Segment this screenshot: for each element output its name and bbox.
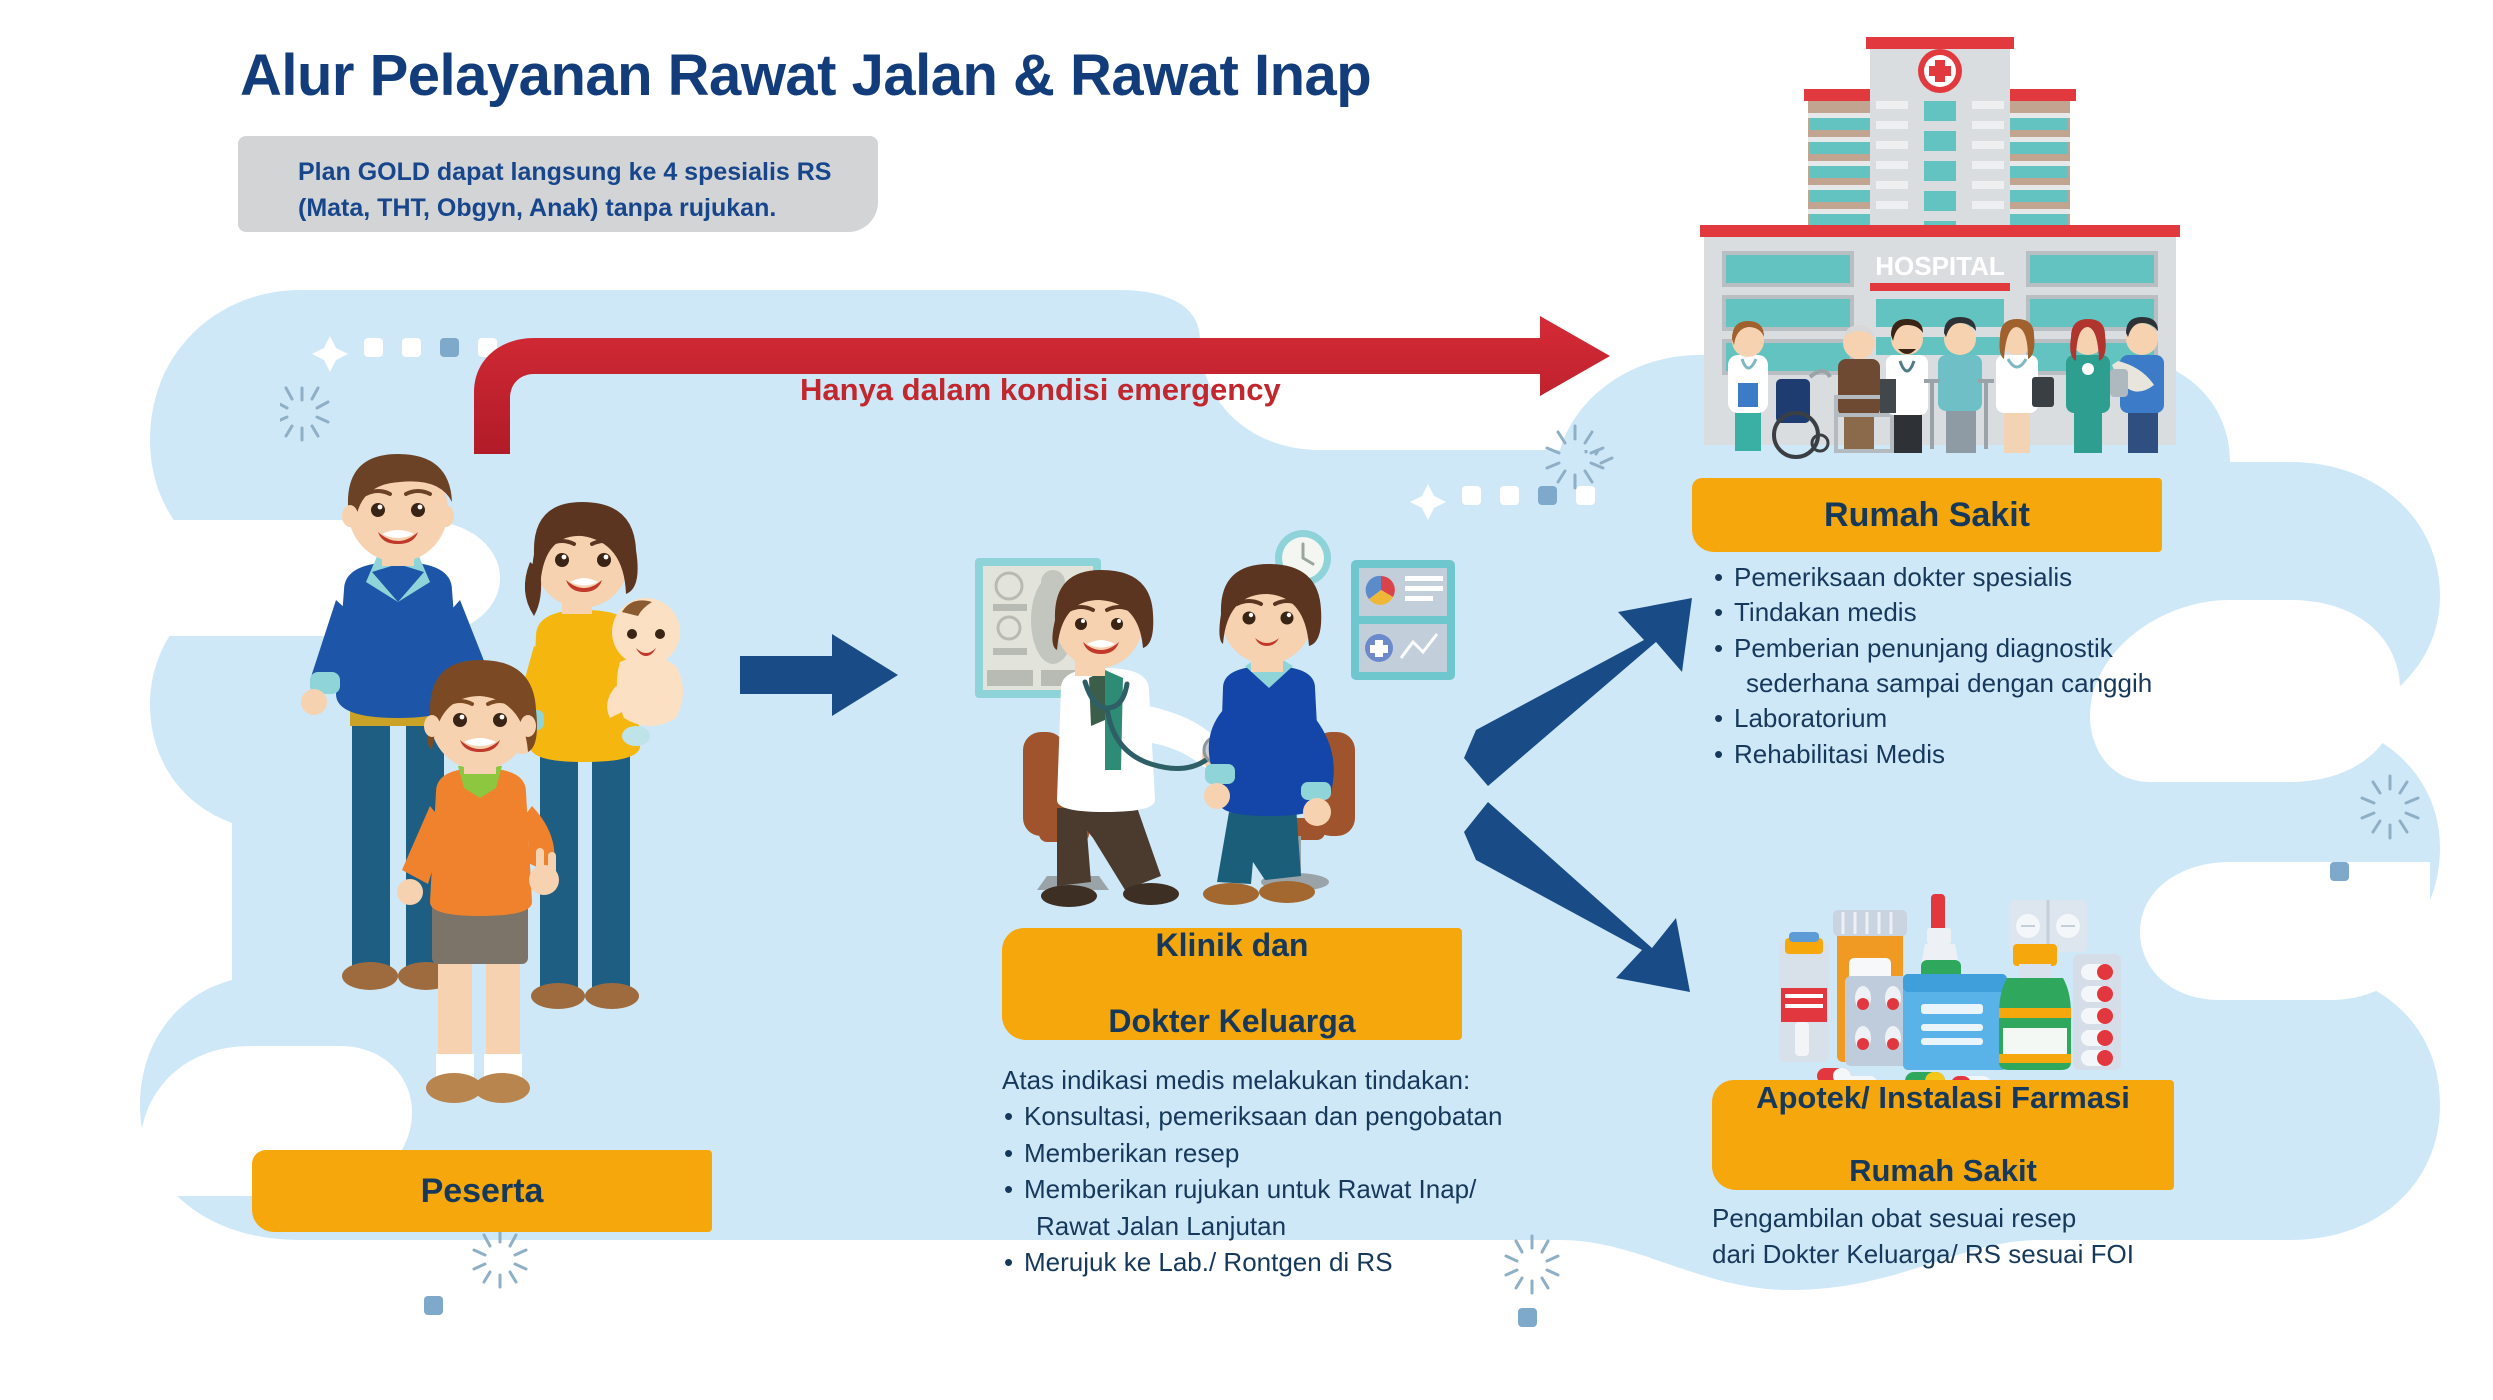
card-apotek-label: Apotek/ Instalasi Farmasi Rumah Sakit [1756,1080,2130,1190]
card-apotek-line2: Rumah Sakit [1756,1153,2130,1190]
list-item: Memberikan rujukan untuk Rawat Inap/ [1002,1171,1522,1207]
hospital-sign-text: HOSPITAL [1875,251,2005,281]
card-peserta[interactable]: Peserta [252,1150,712,1232]
patient-figure [1203,564,1334,905]
pill-strip-left [1779,932,1829,1062]
list-item: Pemeriksaan dokter spesialis [1712,560,2232,595]
callout-text: Plan GOLD dapat langsung ke 4 spesialis … [298,154,858,227]
red-cross-logo [1918,49,1962,93]
page-title: Alur Pelayanan Rawat Jalan & Rawat Inap [240,42,1371,109]
arrow-klinik-to-apotek [1460,780,1710,1000]
deco-cluster-far-right [2230,770,2490,890]
card-peserta-label: Peserta [421,1171,544,1211]
infographic-canvas: Alur Pelayanan Rawat Jalan & Rawat Inap … [0,0,2493,1400]
apotek-description: Pengambilan obat sesuai resep dari Dokte… [1712,1200,2212,1273]
list-item-continuation: sederhana sampai dengan canggih [1712,666,2232,701]
klinik-bullet-list: Atas indikasi medis melakukan tindakan: … [1002,1062,1522,1280]
doctor-figure [1041,570,1232,907]
medical-chart-board-icon [1351,560,1455,680]
callout-line-1: Plan GOLD dapat langsung ke 4 spesialis … [298,158,831,186]
medicine-box-blue [1903,974,2007,1070]
card-rumah-sakit-label: Rumah Sakit [1824,495,2030,535]
apotek-desc-line1: Pengambilan obat sesuai resep [1712,1200,2212,1236]
card-klinik-line2: Dokter Keluarga [1108,1003,1355,1041]
list-item: Konsultasi, pemeriksaan dan pengobatan [1002,1098,1522,1134]
rumah-sakit-bullet-list: Pemeriksaan dokter spesialis Tindakan me… [1712,560,2232,772]
list-item: Rehabilitasi Medis [1712,737,2232,772]
capsule-blister-right [2073,954,2121,1070]
card-apotek[interactable]: Apotek/ Instalasi Farmasi Rumah Sakit [1712,1080,2174,1190]
emergency-label: Hanya dalam kondisi emergency [800,372,1281,408]
card-apotek-line1: Apotek/ Instalasi Farmasi [1756,1080,2130,1117]
arrow-klinik-to-hospital [1460,590,1710,800]
deco-cluster-bottom-left [300,1230,550,1360]
list-item: Tindakan medis [1712,595,2232,630]
blister-pack-center [1845,976,1913,1066]
doctor-examining-patient-illustration [965,520,1495,920]
card-rumah-sakit[interactable]: Rumah Sakit [1692,478,2162,552]
list-item: Merujuk ke Lab./ Rontgen di RS [1002,1244,1522,1280]
apotek-desc-line2: dari Dokter Keluarga/ RS sesuai FOI [1712,1236,2212,1272]
list-item: Laboratorium [1712,701,2232,736]
callout-line-2: (Mata, THT, Obgyn, Anak) tanpa rujukan. [298,194,776,222]
hospital-building-illustration: HOSPITAL [1680,25,2200,495]
card-klinik-label: Klinik dan Dokter Keluarga [1108,927,1355,1040]
list-item: Pemberian penunjang diagnostik [1712,631,2232,666]
green-syrup-bottle [1999,944,2071,1070]
card-klinik[interactable]: Klinik dan Dokter Keluarga [1002,928,1462,1040]
list-item-continuation: Rawat Jalan Lanjutan [1002,1208,1522,1244]
card-klinik-line1: Klinik dan [1108,927,1355,965]
arrow-peserta-to-klinik [740,630,900,720]
gold-plan-callout: Plan GOLD dapat langsung ke 4 spesialis … [238,136,878,232]
family-illustration [290,450,710,1140]
list-item: Memberikan resep [1002,1135,1522,1171]
mother-figure [510,502,647,1009]
klinik-intro: Atas indikasi medis melakukan tindakan: [1002,1062,1522,1098]
